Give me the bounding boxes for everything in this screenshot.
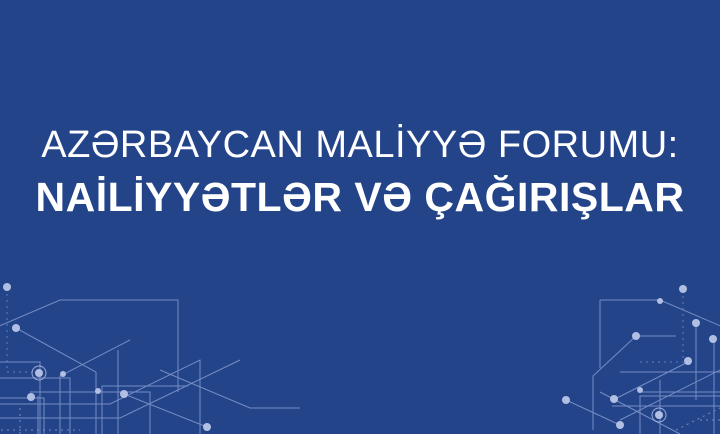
title-line-1: AZƏRBAYCAN MALİYYƏ FORUMU: — [0, 126, 720, 164]
event-banner: AZƏRBAYCAN MALİYYƏ FORUMU: NAİLİYYƏTLƏR … — [0, 0, 720, 434]
title-line-2: NAİLİYYƏTLƏR VƏ ÇAĞIRIŞLAR — [0, 177, 720, 218]
title-block: AZƏRBAYCAN MALİYYƏ FORUMU: NAİLİYYƏTLƏR … — [0, 0, 720, 218]
